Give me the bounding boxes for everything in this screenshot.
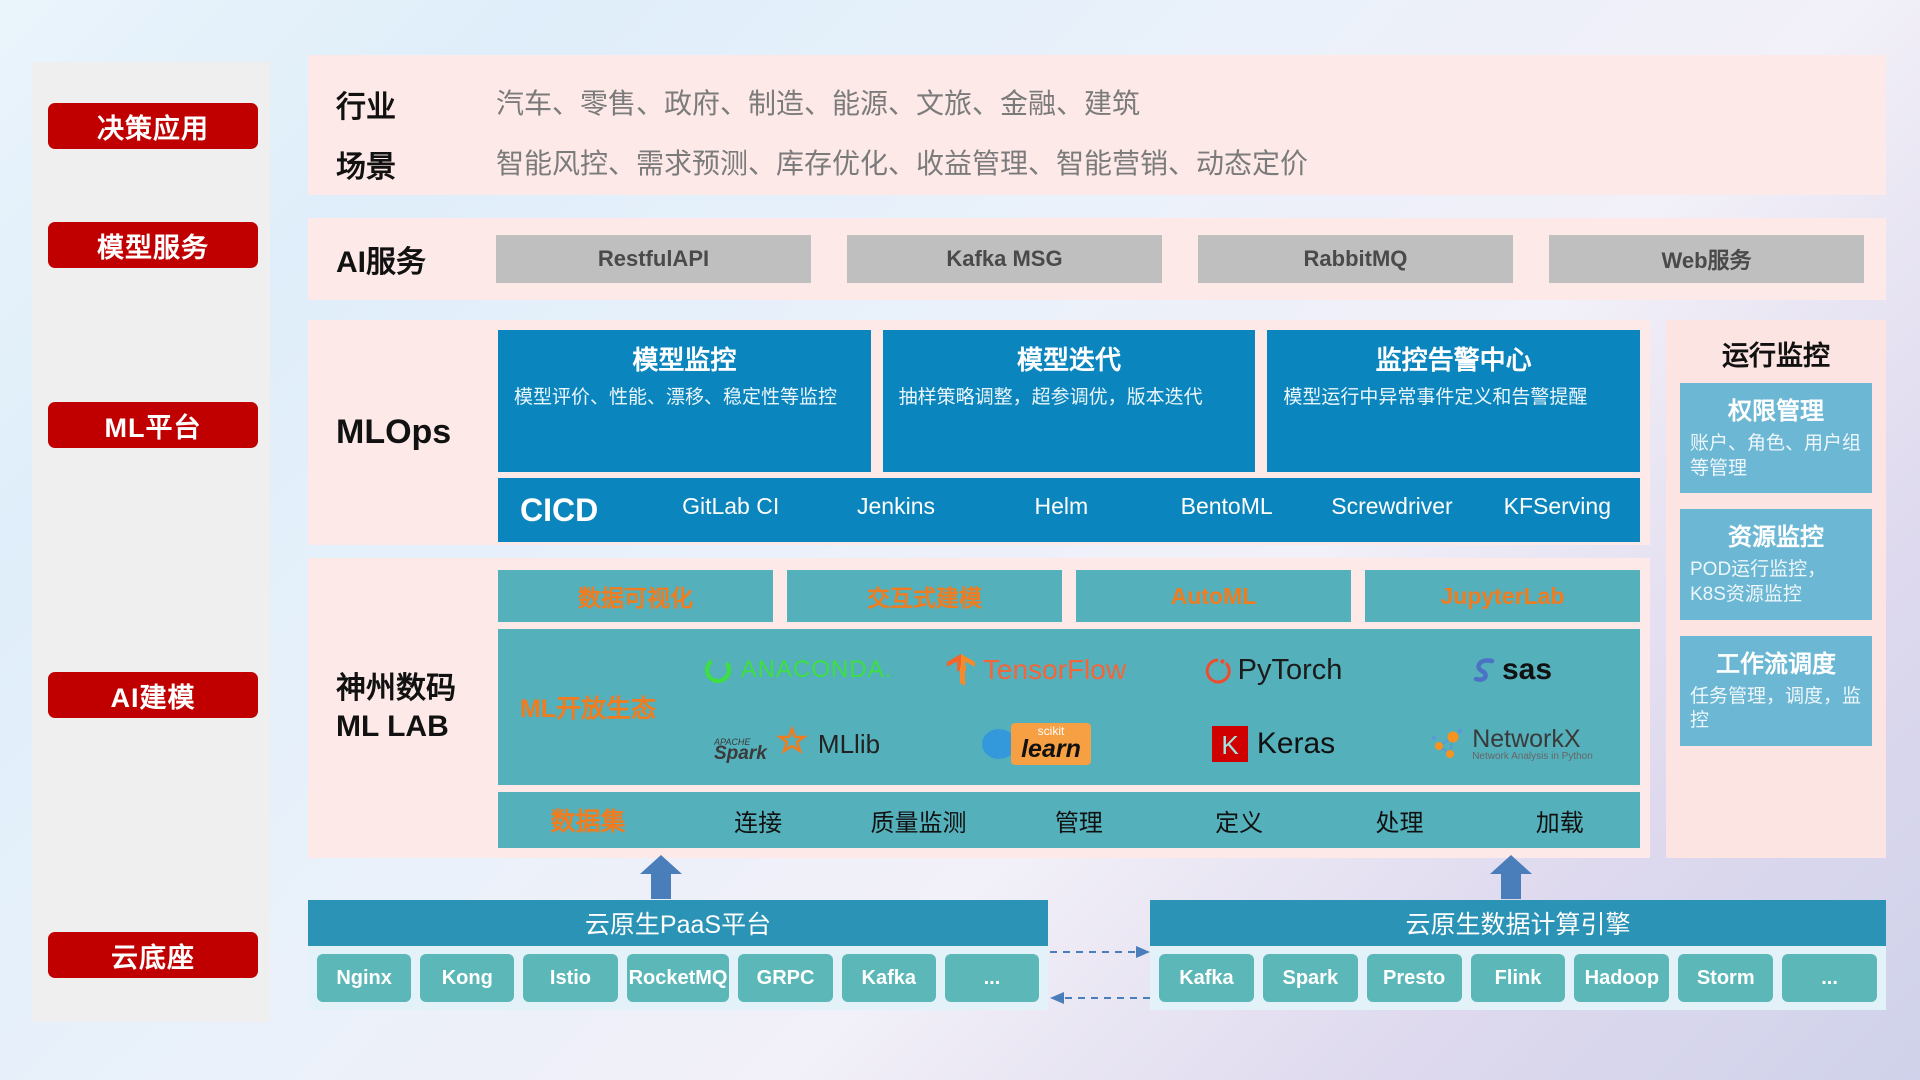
ml-lab-band: 神州数码 ML LAB 数据可视化 交互式建模 AutoML JupyterLa… [308, 558, 1650, 858]
ml-lab-label: 神州数码 ML LAB [336, 558, 496, 858]
compute-chip-spark[interactable]: Spark [1263, 954, 1358, 1002]
lab-tab-data-visualization[interactable]: 数据可视化 [498, 570, 773, 622]
ml-lab-label-line2: ML LAB [336, 708, 496, 746]
layer-tag-cloud-base[interactable]: 云底座 [48, 932, 258, 978]
paas-up-arrow-icon [640, 855, 682, 899]
mlops-card-alert-center[interactable]: 监控告警中心 模型运行中异常事件定义和告警提醒 [1267, 330, 1640, 472]
layer-tag-label: 决策应用 [97, 107, 209, 146]
compute-chip-flink[interactable]: Flink [1471, 954, 1566, 1002]
monitoring-card-title: 工作流调度 [1690, 644, 1862, 679]
layer-tag-label: AI建模 [111, 676, 196, 715]
sas-logo: sas [1470, 653, 1552, 687]
compute-chip-kafka[interactable]: Kafka [1159, 954, 1254, 1002]
mlops-label: MLOps [336, 320, 496, 545]
ai-service-chip-rabbitmq[interactable]: RabbitMQ [1198, 235, 1513, 283]
apache-spark-icon: APACHE Spark [714, 725, 810, 763]
layer-tag-model-service[interactable]: 模型服务 [48, 222, 258, 268]
ai-service-label: AI服务 [336, 237, 496, 281]
mlops-card-model-iteration[interactable]: 模型迭代 抽样策略调整，超参调优，版本迭代 [883, 330, 1256, 472]
anaconda-wordmark: ANACONDA. [741, 656, 893, 684]
ai-service-chip-web[interactable]: Web服务 [1549, 235, 1864, 283]
cloud-compute-group: 云原生数据计算引擎 Kafka Spark Presto Flink Hadoo… [1150, 900, 1886, 1010]
svg-text:Spark: Spark [714, 743, 768, 763]
cloud-paas-group: 云原生PaaS平台 Nginx Kong Istio RocketMQ GRPC… [308, 900, 1048, 1010]
lab-tab-automl[interactable]: AutoML [1076, 570, 1351, 622]
anaconda-icon [702, 654, 734, 686]
compute-engine-up-arrow-icon [1490, 855, 1532, 899]
cloud-chip-nginx[interactable]: Nginx [317, 954, 411, 1002]
networkx-logo: NetworkX Network Analysis in Python [1429, 726, 1593, 763]
applications-band: 行业 汽车、零售、政府、制造、能源、文旅、金融、建筑 场景 智能风控、需求预测、… [308, 55, 1886, 195]
ml-open-ecosystem: ML开放生态 ANACONDA. [498, 629, 1640, 785]
layer-tag-decision-app[interactable]: 决策应用 [48, 103, 258, 149]
mlops-card-desc: 抽样策略调整，超参调优，版本迭代 [899, 385, 1240, 411]
monitoring-card-title: 资源监控 [1690, 517, 1862, 552]
cloud-chip-kong[interactable]: Kong [420, 954, 514, 1002]
lab-tab-interactive-modeling[interactable]: 交互式建模 [787, 570, 1062, 622]
networkx-icon [1429, 726, 1467, 762]
cicd-label: CICD [498, 478, 648, 542]
pytorch-logo: PyTorch [1204, 654, 1343, 687]
dataset-item-connect[interactable]: 连接 [678, 803, 838, 838]
anaconda-logo: ANACONDA. [702, 654, 893, 686]
mlops-band: MLOps 模型监控 模型评价、性能、漂移、稳定性等监控 模型迭代 抽样策略调整… [308, 320, 1650, 545]
cloud-compute-title: 云原生数据计算引擎 [1150, 900, 1886, 946]
compute-chip-storm[interactable]: Storm [1678, 954, 1773, 1002]
tensorflow-wordmark: TensorFlow [983, 654, 1126, 686]
ml-open-ecosystem-label: ML开放生态 [498, 629, 678, 785]
cloud-paas-title: 云原生PaaS平台 [308, 900, 1048, 946]
cicd-item-bentoml[interactable]: BentoML [1144, 478, 1309, 521]
keras-icon: K [1211, 725, 1249, 763]
cloud-chip-rocketmq[interactable]: RocketMQ [627, 954, 730, 1002]
industry-values: 汽车、零售、政府、制造、能源、文旅、金融、建筑 [496, 82, 1886, 126]
ml-lab-label-line1: 神州数码 [336, 670, 496, 708]
cicd-item-helm[interactable]: Helm [979, 478, 1144, 521]
ai-service-chip-restfulapi[interactable]: RestfulAPI [496, 235, 811, 283]
lab-tab-jupyterlab[interactable]: JupyterLab [1365, 570, 1640, 622]
cicd-item-screwdriver[interactable]: Screwdriver [1309, 478, 1474, 521]
dataset-item-load[interactable]: 加载 [1480, 803, 1640, 838]
scenario-label: 场景 [336, 142, 496, 186]
monitoring-card-desc: POD运行监控，K8S资源监控 [1690, 558, 1862, 607]
layer-tag-ml-platform[interactable]: ML平台 [48, 402, 258, 448]
cloud-chip-more[interactable]: ... [945, 954, 1039, 1002]
monitoring-panel: 运行监控 权限管理 账户、角色、用户组等管理 资源监控 POD运行监控，K8S资… [1666, 320, 1886, 858]
cicd-item-kfserving[interactable]: KFServing [1475, 478, 1640, 521]
monitoring-card-desc: 任务管理，调度，监控 [1690, 685, 1862, 734]
dataset-item-process[interactable]: 处理 [1319, 803, 1479, 838]
layer-rail [32, 62, 270, 1022]
mlops-card-title: 模型迭代 [899, 340, 1240, 377]
compute-chip-hadoop[interactable]: Hadoop [1574, 954, 1669, 1002]
cloud-chip-kafka[interactable]: Kafka [842, 954, 936, 1002]
cloud-connector-arrows [1048, 940, 1152, 1012]
mllib-wordmark: MLlib [818, 729, 880, 760]
monitoring-card-resource[interactable]: 资源监控 POD运行监控，K8S资源监控 [1680, 509, 1872, 619]
networkx-tagline: Network Analysis in Python [1472, 752, 1593, 763]
layer-tag-label: 模型服务 [97, 226, 209, 265]
industry-label: 行业 [336, 82, 496, 126]
mlops-card-model-monitor[interactable]: 模型监控 模型评价、性能、漂移、稳定性等监控 [498, 330, 871, 472]
architecture-diagram: 决策应用 模型服务 ML平台 AI建模 云底座 行业 汽车、零售、政府、制造、能… [0, 0, 1920, 1080]
monitoring-card-title: 权限管理 [1690, 391, 1862, 426]
compute-chip-presto[interactable]: Presto [1367, 954, 1462, 1002]
dataset-item-quality[interactable]: 质量监测 [838, 803, 998, 838]
layer-tag-label: 云底座 [111, 936, 195, 975]
layer-tag-label: ML平台 [105, 406, 202, 445]
mlops-card-desc: 模型运行中异常事件定义和告警提醒 [1283, 385, 1624, 411]
monitoring-card-desc: 账户、角色、用户组等管理 [1690, 432, 1862, 481]
tensorflow-logo: TensorFlow [944, 652, 1126, 688]
tensorflow-icon [944, 652, 978, 688]
pytorch-wordmark: PyTorch [1238, 654, 1343, 687]
spark-mllib-logo: APACHE Spark MLlib [714, 725, 880, 763]
monitoring-card-workflow[interactable]: 工作流调度 任务管理，调度，监控 [1680, 636, 1872, 746]
cicd-item-jenkins[interactable]: Jenkins [813, 478, 978, 521]
monitoring-card-permission[interactable]: 权限管理 账户、角色、用户组等管理 [1680, 383, 1872, 493]
cloud-chip-grpc[interactable]: GRPC [738, 954, 832, 1002]
scenario-values: 智能风控、需求预测、库存优化、收益管理、智能营销、动态定价 [496, 142, 1886, 186]
cicd-row: CICD GitLab CI Jenkins Helm BentoML Scre… [498, 478, 1640, 542]
mlops-card-desc: 模型评价、性能、漂移、稳定性等监控 [514, 385, 855, 411]
svg-text:K: K [1221, 730, 1239, 760]
sas-icon [1470, 654, 1500, 686]
sas-wordmark: sas [1502, 653, 1552, 687]
ai-service-band: AI服务 RestfulAPI Kafka MSG RabbitMQ Web服务 [308, 218, 1886, 300]
ai-service-chip-kafka-msg[interactable]: Kafka MSG [847, 235, 1162, 283]
dataset-item-manage[interactable]: 管理 [999, 803, 1159, 838]
cicd-item-gitlab-ci[interactable]: GitLab CI [648, 478, 813, 521]
keras-wordmark: Keras [1257, 727, 1335, 761]
compute-chip-more[interactable]: ... [1782, 954, 1877, 1002]
dataset-item-define[interactable]: 定义 [1159, 803, 1319, 838]
dataset-row: 数据集 连接 质量监测 管理 定义 处理 加载 [498, 792, 1640, 848]
layer-tag-ai-modeling[interactable]: AI建模 [48, 672, 258, 718]
pytorch-icon [1204, 654, 1232, 686]
dataset-label: 数据集 [498, 802, 678, 838]
cloud-chip-istio[interactable]: Istio [523, 954, 617, 1002]
keras-logo: K Keras [1211, 725, 1335, 763]
learn-wordmark: learn [1021, 737, 1081, 762]
mlops-card-title: 监控告警中心 [1283, 340, 1624, 377]
mlops-card-title: 模型监控 [514, 340, 855, 377]
scikit-learn-badge: scikit learn [1011, 723, 1091, 765]
scikit-learn-logo: scikit learn [979, 723, 1091, 765]
monitoring-title: 运行监控 [1666, 320, 1886, 383]
networkx-wordmark: NetworkX [1472, 726, 1593, 752]
